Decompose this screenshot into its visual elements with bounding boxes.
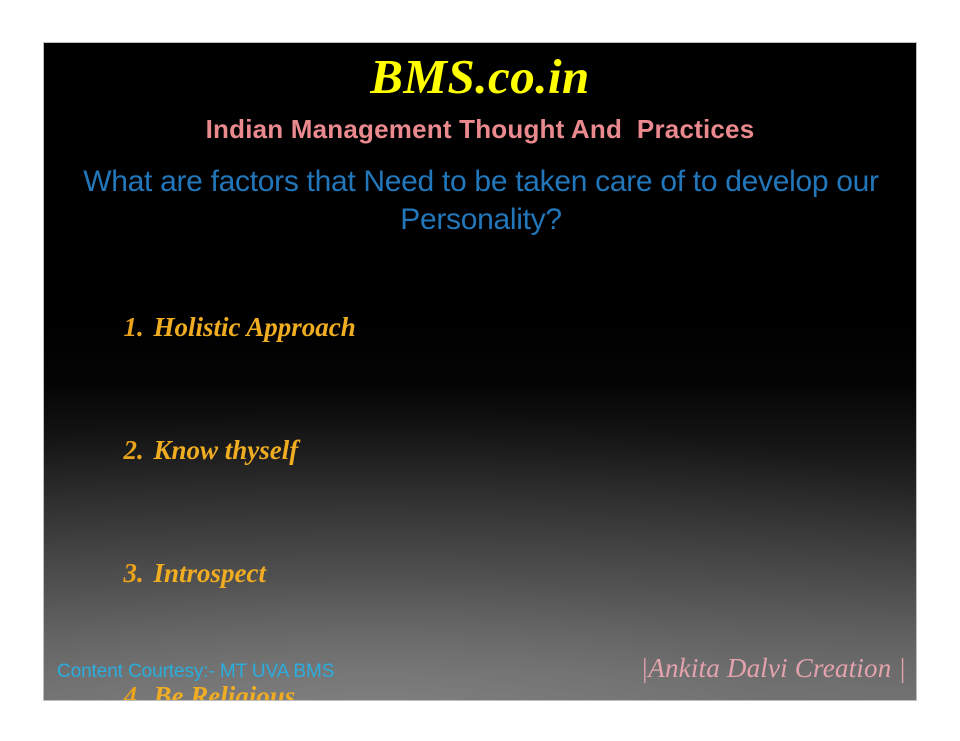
list-item-number: 1. (124, 307, 154, 348)
page-canvas: BMS.co.in Indian Management Thought And … (0, 0, 960, 741)
slide-content: BMS.co.in Indian Management Thought And … (44, 43, 916, 700)
list-item-label: Be Religious (154, 681, 296, 701)
list-item-label: Know thyself (154, 435, 299, 465)
footer-content-courtesy: Content Courtesy:- MT UVA BMS (57, 662, 334, 683)
list-item: 1.Holistic Approach (56, 266, 906, 389)
list-item: 2.Know thyself (56, 389, 906, 512)
slide-question: What are factors that Need to be taken c… (58, 163, 904, 238)
slide-subtitle: Indian Management Thought And Practices (44, 115, 916, 145)
list-item-number: 3. (124, 553, 154, 594)
slide-title: BMS.co.in (44, 51, 916, 102)
list-item-label: Introspect (154, 558, 267, 588)
list-item: 3.Introspect (56, 512, 906, 635)
list-item-number: 2. (124, 430, 154, 471)
factor-list: 1.Holistic Approach 2.Know thyself 3.Int… (56, 266, 906, 701)
footer-creator-credit: |Ankita Dalvi Creation | (641, 654, 906, 684)
list-item-label: Holistic Approach (154, 312, 356, 342)
presentation-slide: BMS.co.in Indian Management Thought And … (43, 42, 917, 701)
